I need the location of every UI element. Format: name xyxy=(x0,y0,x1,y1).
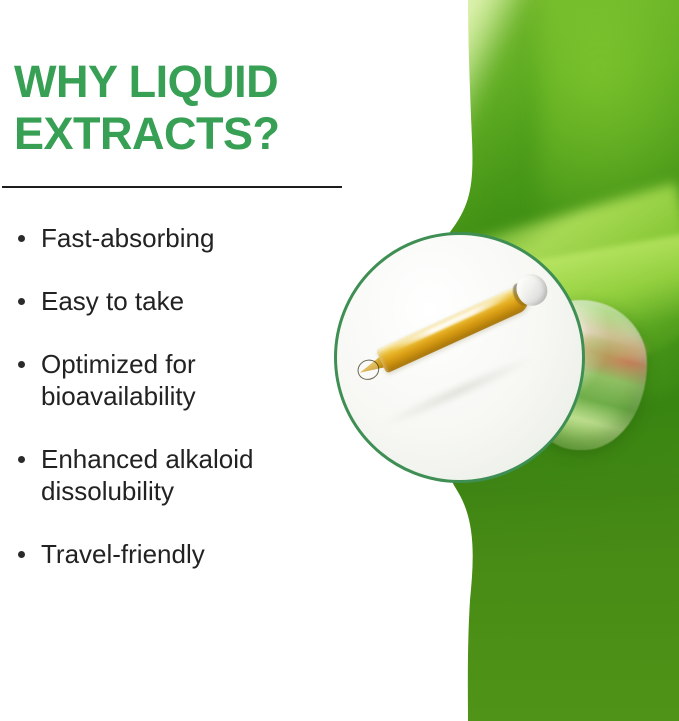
bullet-dot-icon xyxy=(18,551,25,558)
dropper-circle-inset xyxy=(334,232,585,483)
list-item: Travel-friendly xyxy=(14,538,344,570)
list-item-label: Easy to take xyxy=(41,286,184,316)
list-item: Enhanced alkaloid dissolubility xyxy=(14,443,344,507)
infographic-card: WHY LIQUID EXTRACTS? Fast-absorbing Easy… xyxy=(0,0,679,721)
benefits-list: Fast-absorbing Easy to take Optimized fo… xyxy=(14,222,344,570)
bullet-dot-icon xyxy=(18,235,25,242)
list-item-label: Travel-friendly xyxy=(41,539,205,569)
list-item-label: Enhanced alkaloid dissolubility xyxy=(41,444,254,506)
bullet-dot-icon xyxy=(18,361,25,368)
bullet-dot-icon xyxy=(18,298,25,305)
text-column: WHY LIQUID EXTRACTS? Fast-absorbing Easy… xyxy=(14,56,344,570)
list-item-label: Fast-absorbing xyxy=(41,223,214,253)
list-item-label: Optimized for bioavailability xyxy=(41,349,196,411)
bullet-dot-icon xyxy=(18,456,25,463)
title-divider xyxy=(2,186,342,188)
list-item: Easy to take xyxy=(14,285,344,317)
page-title: WHY LIQUID EXTRACTS? xyxy=(14,56,344,160)
list-item: Fast-absorbing xyxy=(14,222,344,254)
list-item: Optimized for bioavailability xyxy=(14,348,344,412)
